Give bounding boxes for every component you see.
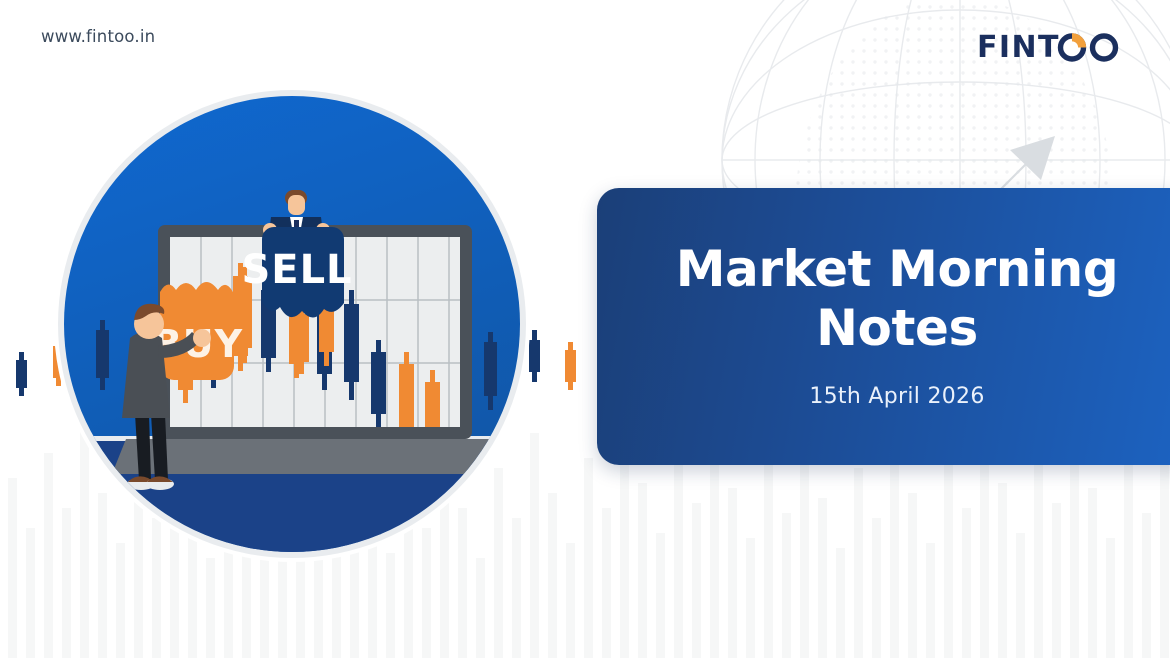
logo-wordmark-text: FINT (977, 30, 1060, 65)
broker-head (288, 195, 305, 215)
fintoo-logo: FINT (977, 26, 1129, 70)
poster-canvas: www.fintoo.in FINT (0, 0, 1170, 658)
title-date: 15th April 2026 (809, 384, 984, 409)
title-line-1: Market Morning (676, 240, 1119, 299)
title-card: Market Morning Notes 15th April 2026 (597, 188, 1170, 465)
person-hand (193, 329, 211, 347)
illustration-container: SELL BUY (8, 62, 608, 607)
title-line-2: Notes (816, 299, 978, 358)
laptop-base (112, 439, 518, 474)
sell-badge-label: SELL (241, 247, 352, 293)
site-url: www.fintoo.in (41, 27, 155, 46)
